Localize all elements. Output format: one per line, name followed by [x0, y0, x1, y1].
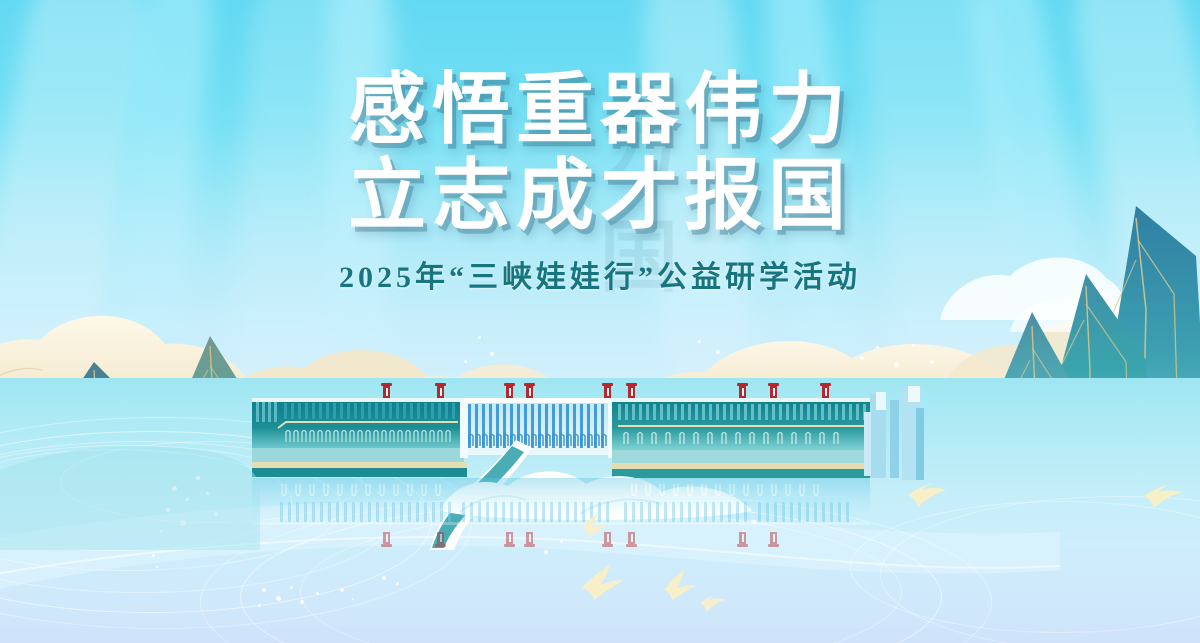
crane-icon: [383, 385, 390, 398]
crane-icon: [628, 385, 635, 398]
crane-icon: [437, 385, 444, 398]
title-line-1: 感悟重器伟力: [0, 66, 1200, 152]
crane-icon: [822, 385, 829, 398]
swallow-icon: [904, 482, 948, 514]
subtitle: 2025年“三峡娃娃行”公益研学活动: [0, 252, 1200, 296]
crane-icon: [526, 385, 533, 398]
crane-icon: [506, 385, 513, 398]
swallow-icon: [580, 560, 636, 604]
crane-icon: [770, 385, 777, 398]
swallow-icon: [662, 568, 700, 602]
title-line-2: 立志成才报国: [0, 152, 1200, 238]
ship-lock: [864, 386, 924, 480]
title-block: 感悟重器伟力 立志成才报国 2025年“三峡娃娃行”公益研学活动: [0, 66, 1200, 296]
swallow-icon: [1138, 484, 1184, 518]
swallow-icon: [700, 594, 728, 616]
crane-icon: [604, 385, 611, 398]
swallow-icon: [580, 512, 610, 538]
left-shore: [0, 430, 260, 555]
banner-root: 力国: [0, 0, 1200, 643]
crane-icon: [739, 385, 746, 398]
